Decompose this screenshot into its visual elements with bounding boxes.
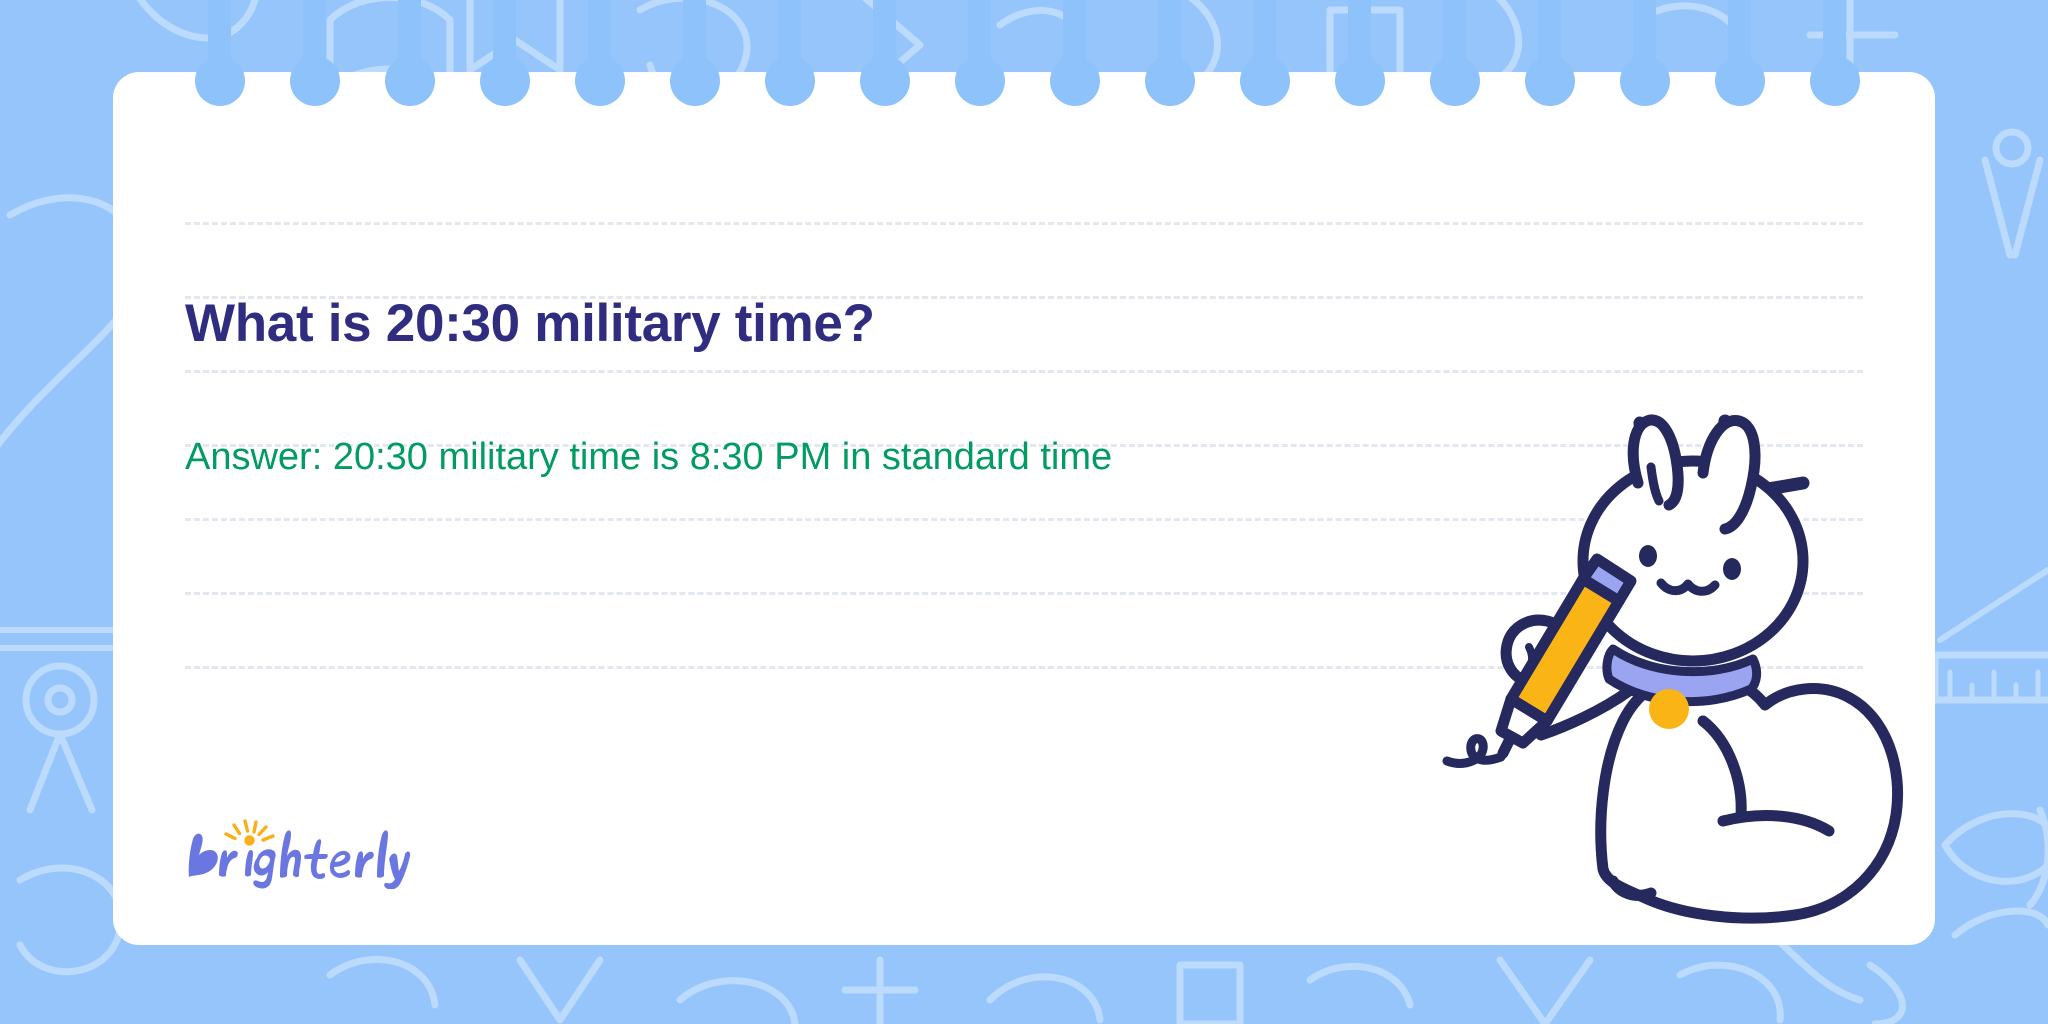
logo-wordmark (189, 830, 410, 889)
rule-line (185, 222, 1863, 225)
binding-ring (683, 0, 706, 68)
pencil-lead (1503, 737, 1511, 753)
binding-ring (588, 0, 611, 68)
binding-ring (1158, 0, 1181, 68)
binding-ring (303, 0, 326, 68)
paperclip-icon (1310, 966, 1410, 1005)
worksheet-page: What is 20:30 military time? Answer: 20:… (0, 0, 2048, 1024)
sun-center-dot (244, 835, 254, 845)
binding-ring (968, 0, 991, 68)
binding-ring (208, 0, 231, 68)
pencil-icon (1680, 965, 1780, 1020)
mascot-body (1601, 674, 1898, 918)
notebook-card: What is 20:30 military time? Answer: 20:… (113, 72, 1935, 945)
triangle-ruler-icon (520, 960, 600, 1020)
book-icon (1180, 965, 1240, 1024)
pencil-scribble (1447, 739, 1501, 764)
mascot-name-tag (1649, 689, 1689, 729)
binding-ring (1823, 0, 1846, 68)
answer-text: Answer: 20:30 military time is 8:30 PM i… (185, 435, 1112, 481)
binding-ring (1348, 0, 1371, 68)
compass-icon (26, 666, 94, 734)
binding-ring (1633, 0, 1656, 68)
binding-ring (778, 0, 801, 68)
binding-ring (873, 0, 896, 68)
bunny-mascot (1351, 391, 1911, 945)
rule-line (185, 370, 1863, 373)
binding-ring (1728, 0, 1751, 68)
binding-ring (1253, 0, 1276, 68)
compass-icon (1985, 160, 2040, 255)
leaf-icon (1945, 814, 2048, 882)
page-title: What is 20:30 military time? (185, 294, 875, 353)
ruler-icon (1940, 570, 2048, 640)
brighterly-logo[interactable] (181, 815, 411, 889)
mascot-head (1583, 461, 1803, 661)
binding-ring (1443, 0, 1466, 68)
binding-ring (398, 0, 421, 68)
binding-ring (1538, 0, 1561, 68)
binding-ring (1063, 0, 1086, 68)
binding-ring (493, 0, 516, 68)
